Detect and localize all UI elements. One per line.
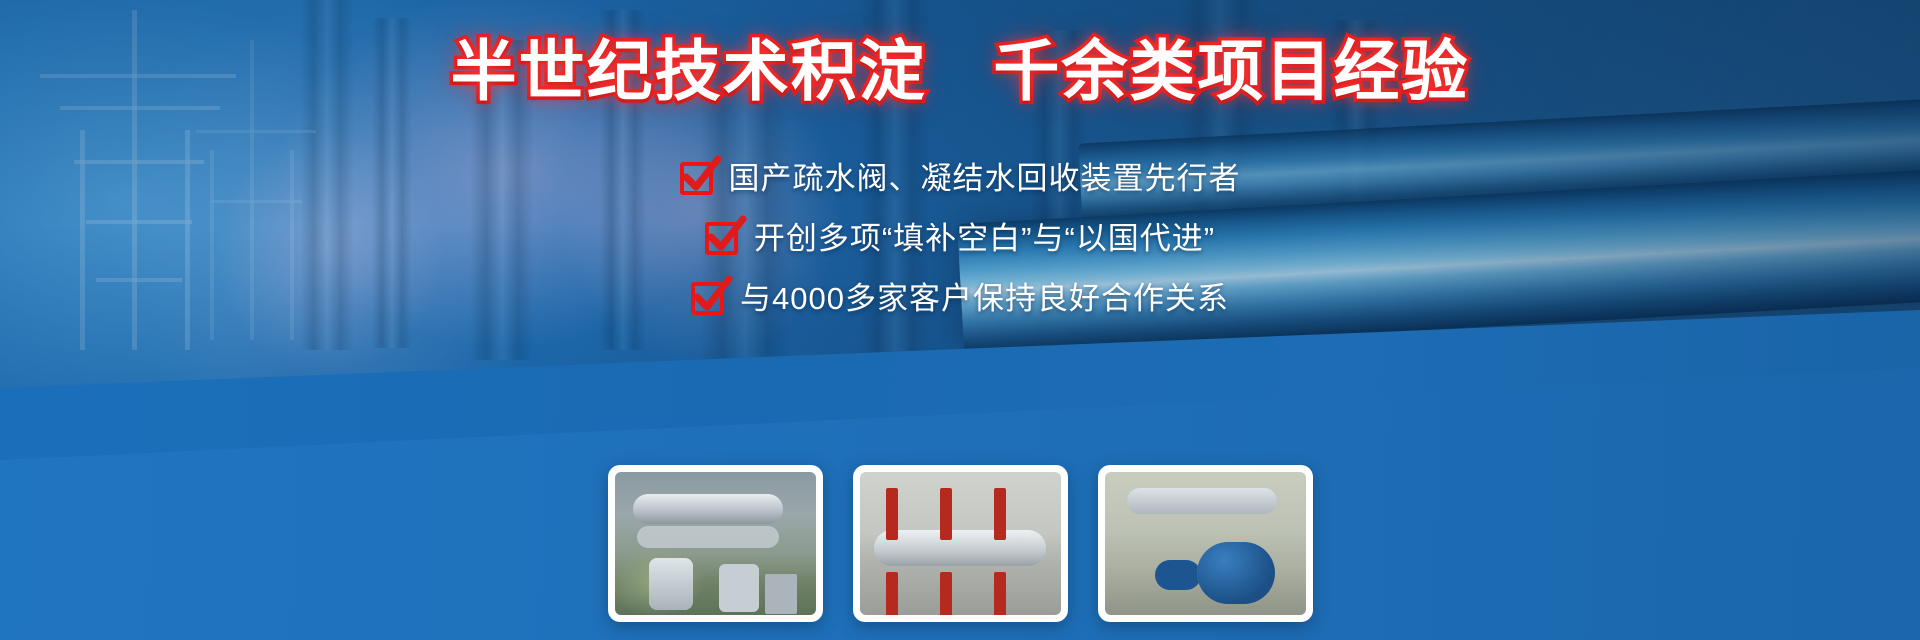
photo-red-piped-skid (860, 472, 1061, 615)
headline-part-2: 千余类项目经验 (993, 34, 1469, 108)
bullet-item: 国产疏水阀、凝结水回收装置先行者 (680, 152, 1241, 204)
bullet-text: 与4000多家客户保持良好合作关系 (740, 283, 1229, 314)
photo-stainless-vessels (615, 472, 816, 615)
bullet-item: 与4000多家客户保持良好合作关系 (691, 272, 1229, 324)
banner-bullet-list: 国产疏水阀、凝结水回收装置先行者 开创多项“填补空白”与“以国代进” 与4000… (0, 152, 1920, 324)
headline-part-1: 半世纪技术积淀 (451, 34, 927, 108)
photo-card[interactable] (608, 465, 823, 622)
check-box-icon (680, 162, 713, 195)
promo-banner: 半世纪技术积淀 千余类项目经验 国产疏水阀、凝结水回收装置先行者 (0, 0, 1920, 640)
bullet-item: 开创多项“填补空白”与“以国代进” (705, 212, 1215, 264)
banner-headline: 半世纪技术积淀 千余类项目经验 (0, 38, 1920, 104)
photo-blue-tank-unit (1105, 472, 1306, 615)
project-photo-gallery (0, 465, 1920, 622)
bullet-text: 国产疏水阀、凝结水回收装置先行者 (729, 163, 1241, 194)
check-box-icon (705, 222, 738, 255)
bullet-text: 开创多项“填补空白”与“以国代进” (754, 223, 1215, 254)
photo-card[interactable] (853, 465, 1068, 622)
check-box-icon (691, 282, 724, 315)
photo-card[interactable] (1098, 465, 1313, 622)
